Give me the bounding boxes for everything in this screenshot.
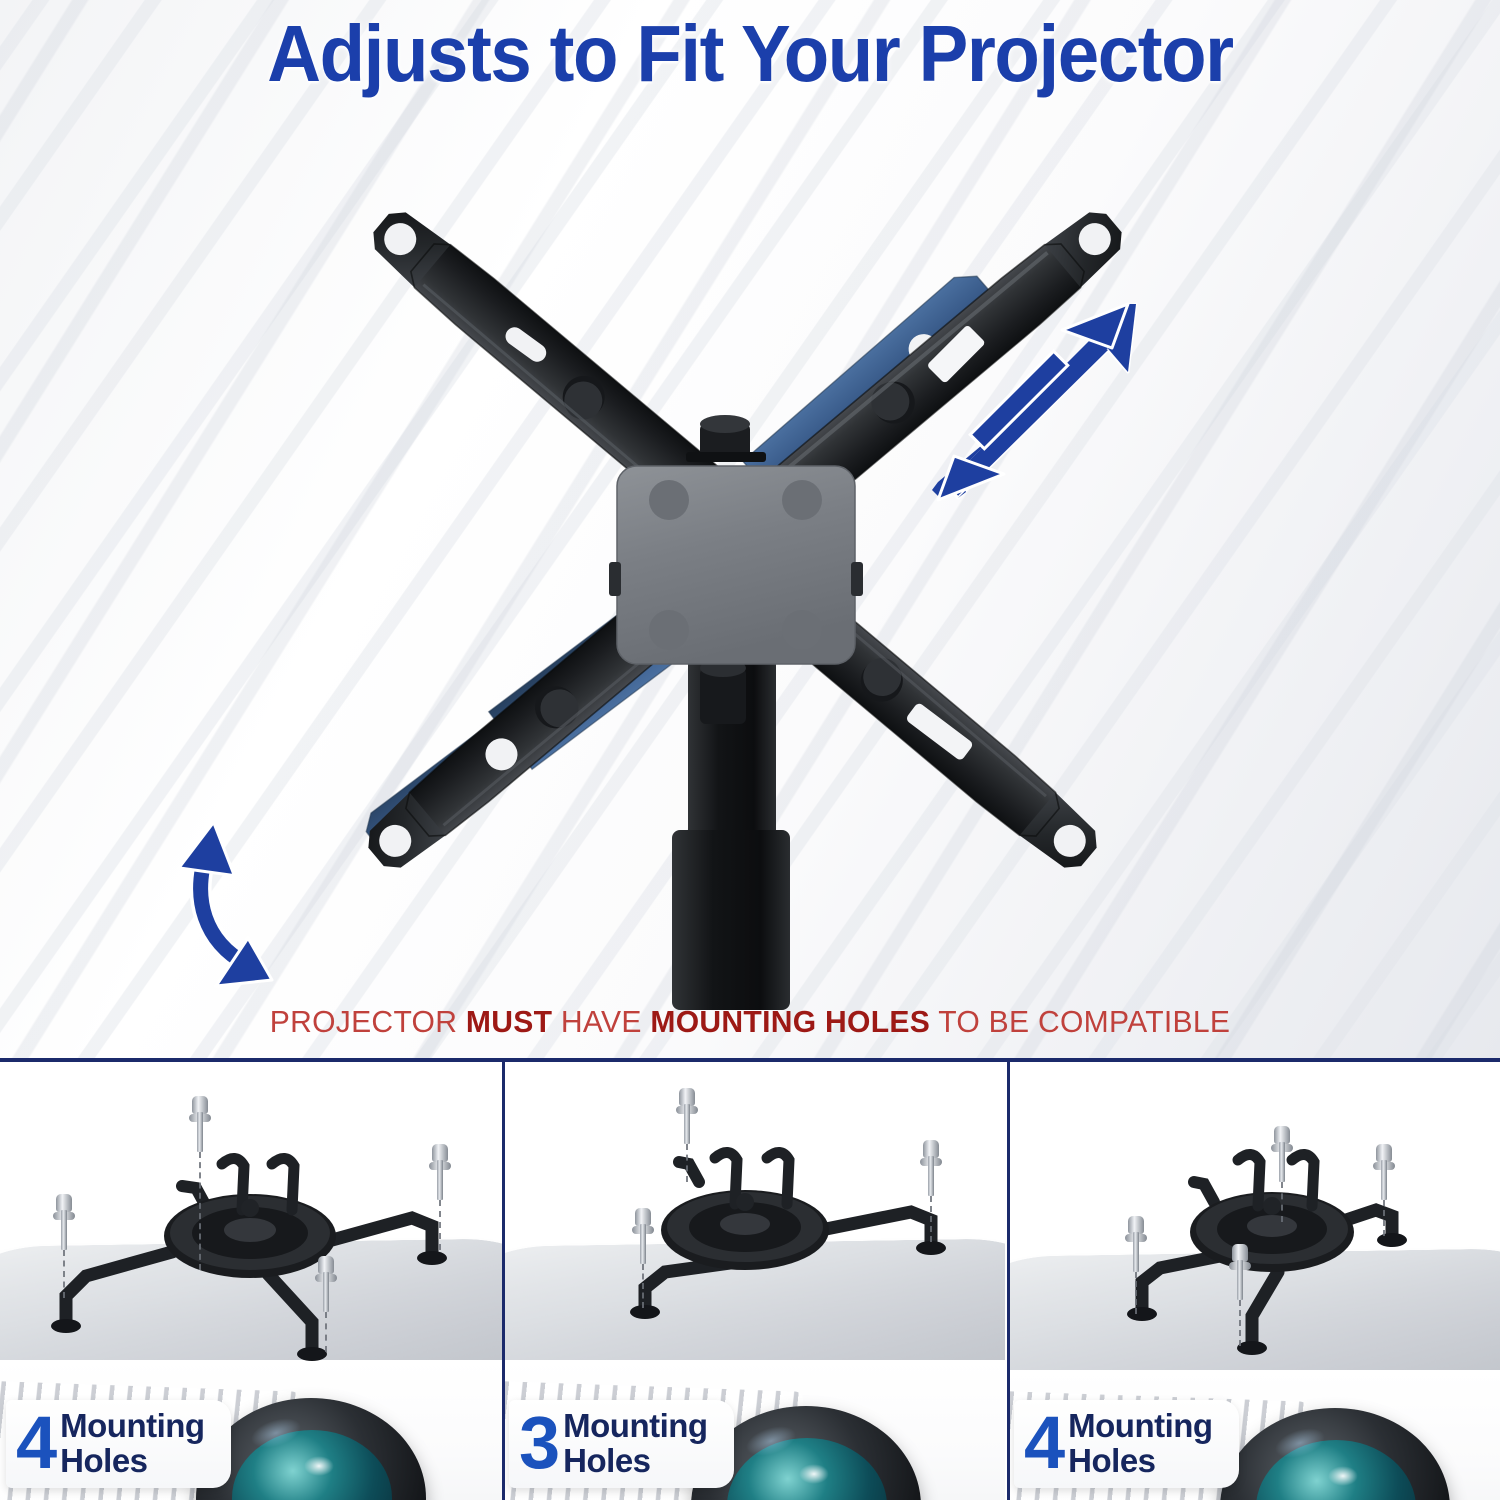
badge-label-line1: Mounting <box>1068 1407 1212 1444</box>
screw-alignment-line <box>199 1152 201 1270</box>
mounting-screw <box>432 1144 448 1200</box>
badge-label: Mounting Holes <box>563 1408 707 1478</box>
strip-divider-2 <box>1007 1062 1010 1500</box>
badge-label-line2: Holes <box>563 1442 650 1479</box>
mount-top-hub <box>686 415 766 462</box>
mounting-screw <box>1376 1144 1392 1200</box>
badge-label-line1: Mounting <box>563 1407 707 1444</box>
badge-number: 3 <box>519 1412 557 1474</box>
mount-extension-post <box>672 640 790 1010</box>
mounting-holes-badge: 4 Mounting Holes <box>6 1400 231 1488</box>
compatibility-note: PROJECTOR MUST HAVE MOUNTING HOLES TO BE… <box>23 1004 1478 1040</box>
mounting-screw <box>1274 1126 1290 1182</box>
tilt-adjust-arrow <box>179 818 272 986</box>
note-part-1: PROJECTOR <box>270 1004 466 1039</box>
example-panel-3-holes: 3 Mounting Holes <box>503 1060 1005 1500</box>
badge-label-line2: Holes <box>1068 1442 1155 1479</box>
screw-alignment-line <box>1135 1272 1137 1314</box>
example-panel-4-narrow: 4 Mounting Holes <box>1008 1060 1500 1500</box>
screw-alignment-line <box>1281 1182 1283 1222</box>
note-part-2: MUST <box>466 1004 552 1039</box>
screw-alignment-line <box>686 1144 688 1182</box>
page-title: Adjusts to Fit Your Projector <box>53 8 1448 100</box>
badge-label: Mounting Holes <box>1068 1408 1212 1478</box>
example-panel-4-wide: 4 Mounting Holes <box>0 1060 502 1500</box>
mounting-screw <box>192 1096 208 1152</box>
compatibility-examples-strip: 4 Mounting Holes <box>0 1060 1500 1500</box>
mounting-screw <box>1128 1216 1144 1272</box>
badge-number: 4 <box>1024 1412 1062 1474</box>
screw-alignment-line <box>325 1312 327 1352</box>
badge-label-line2: Holes <box>60 1442 147 1479</box>
mounting-screw <box>318 1256 334 1312</box>
strip-divider-horizontal <box>0 1058 1500 1062</box>
note-part-4: MOUNTING HOLES <box>650 1004 930 1039</box>
mounting-screw <box>923 1140 939 1196</box>
badge-label-line1: Mounting <box>60 1407 204 1444</box>
screw-alignment-line <box>930 1196 932 1242</box>
infographic-page: Adjusts to Fit Your Projector <box>0 0 1500 1500</box>
note-part-3: HAVE <box>552 1004 650 1039</box>
screw-alignment-line <box>1239 1300 1241 1346</box>
mounting-screw <box>1232 1244 1248 1300</box>
projector-mount-illustration <box>0 0 1500 1010</box>
mounting-holes-badge: 4 Mounting Holes <box>1014 1400 1239 1488</box>
mounting-screw <box>635 1208 651 1264</box>
screw-alignment-line <box>642 1264 644 1308</box>
vesa-center-plate <box>609 466 863 664</box>
hero-panel: Adjusts to Fit Your Projector <box>0 0 1500 1060</box>
screw-alignment-line <box>1383 1200 1385 1236</box>
strip-divider-1 <box>502 1062 505 1500</box>
note-part-5: TO BE COMPATIBLE <box>930 1004 1230 1039</box>
mounting-holes-badge: 3 Mounting Holes <box>509 1400 734 1488</box>
badge-number: 4 <box>16 1412 54 1474</box>
badge-label: Mounting Holes <box>60 1408 204 1478</box>
screw-alignment-line <box>439 1200 441 1250</box>
mounting-screw <box>679 1088 695 1144</box>
screw-alignment-line <box>63 1250 65 1298</box>
mounting-screw <box>56 1194 72 1250</box>
